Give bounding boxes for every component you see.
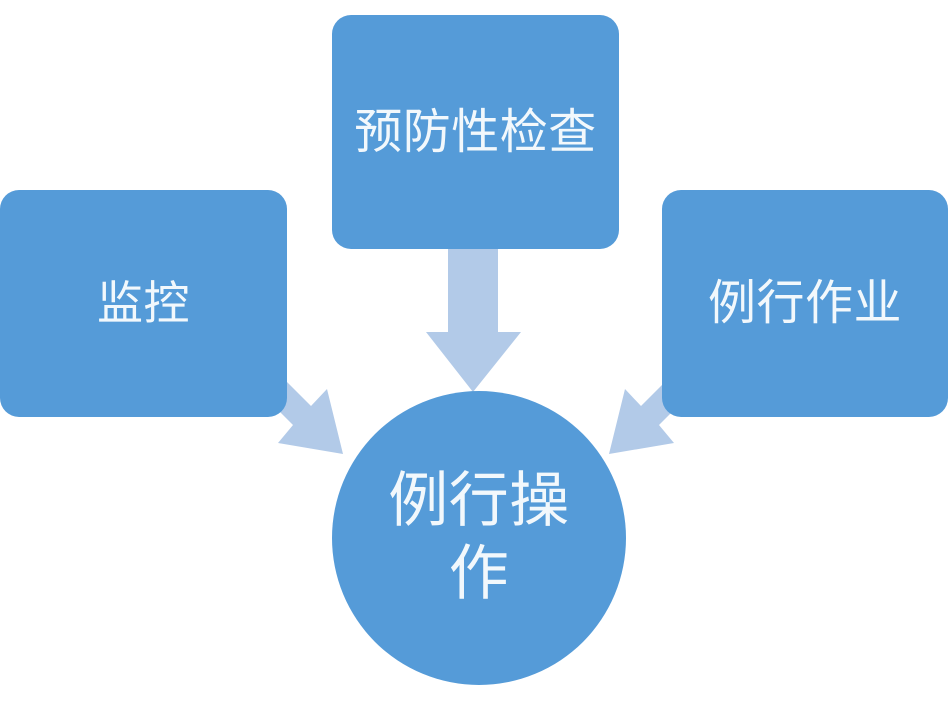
diagram-canvas: 预防性检查 监控 例行作业 例行操 作 <box>0 0 948 705</box>
node-routine-tasks[interactable]: 例行作业 <box>662 190 948 417</box>
node-monitoring-label: 监控 <box>97 276 190 330</box>
arrow-top-down-icon <box>426 245 521 392</box>
node-preventive-inspection-label: 预防性检查 <box>354 104 597 161</box>
node-routine-operations-label: 例行操 作 <box>388 465 570 611</box>
node-preventive-inspection[interactable]: 预防性检查 <box>332 15 619 249</box>
node-monitoring[interactable]: 监控 <box>0 190 287 417</box>
node-routine-tasks-label: 例行作业 <box>708 275 902 332</box>
node-routine-operations[interactable]: 例行操 作 <box>332 391 626 685</box>
